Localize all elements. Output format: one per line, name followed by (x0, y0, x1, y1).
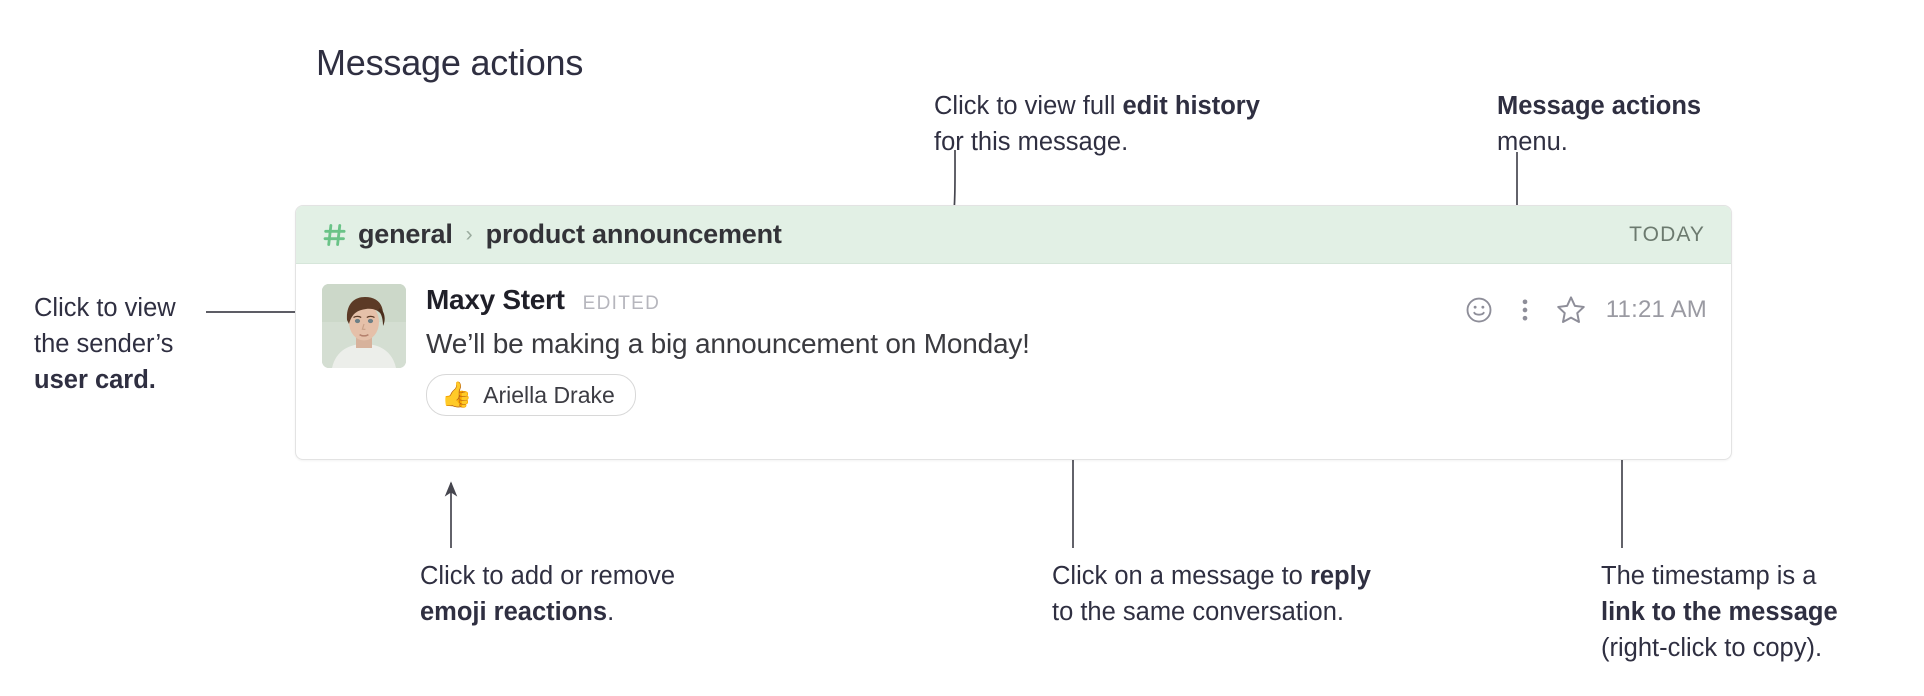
annotation-text-bold: emoji reactions (420, 598, 607, 626)
reaction-pill[interactable]: 👍 Ariella Drake (426, 374, 636, 416)
reaction-label: Ariella Drake (483, 382, 615, 409)
message-content[interactable]: We’ll be making a big announcement on Mo… (426, 328, 1705, 360)
star-icon[interactable] (1548, 290, 1594, 330)
date-label: TODAY (1629, 223, 1705, 247)
avatar[interactable] (322, 284, 406, 368)
annotation-line: The timestamp is a (1601, 558, 1838, 594)
reaction-list: 👍 Ariella Drake (426, 374, 1705, 416)
annotation-timestamp: The timestamp is a link to the message (… (1601, 558, 1838, 666)
sender-name[interactable]: Maxy Stert (426, 284, 565, 316)
page-title: Message actions (316, 42, 583, 84)
annotation-edit-history: Click to view full edit history for this… (934, 88, 1260, 160)
hash-icon[interactable] (322, 222, 348, 248)
annotation-line: the sender’s (34, 326, 176, 362)
annotation-message-actions: Message actions menu. (1497, 88, 1701, 160)
annotation-user-card: Click to view the sender’s user card. (34, 290, 176, 398)
annotation-text-bold: reply (1310, 562, 1371, 590)
recipient-bar[interactable]: general › product announcement TODAY (296, 206, 1731, 264)
message-actions-icon[interactable] (1502, 290, 1548, 330)
avatar-image (322, 284, 406, 368)
add-reaction-icon[interactable] (1456, 290, 1502, 330)
annotation-line: menu. (1497, 124, 1701, 160)
annotation-text: Click to view full (934, 92, 1122, 120)
annotation-line: Click to add or remove (420, 558, 675, 594)
thumbs-up-icon: 👍 (441, 383, 472, 408)
annotation-line: (right-click to copy). (1601, 630, 1838, 666)
annotation-emoji-reactions: Click to add or remove emoji reactions. (420, 558, 675, 630)
message-row[interactable]: Maxy Stert EDITED We’ll be making a big … (296, 264, 1731, 416)
annotation-text: Click on a message to (1052, 562, 1310, 590)
breadcrumb-separator-icon: › (466, 224, 473, 245)
message-timestamp[interactable]: 11:21 AM (1606, 296, 1707, 324)
annotation-text: . (607, 598, 614, 626)
annotation-line: to the same conversation. (1052, 594, 1371, 630)
message-card: general › product announcement TODAY (295, 205, 1732, 460)
annotation-text-bold: edit history (1122, 92, 1259, 120)
annotation-line-bold: user card. (34, 366, 156, 394)
stream-name[interactable]: general (358, 219, 453, 250)
annotation-reply: Click on a message to reply to the same … (1052, 558, 1371, 630)
annotation-text-bold: Message actions (1497, 92, 1701, 120)
topic-name[interactable]: product announcement (486, 219, 782, 250)
edited-badge[interactable]: EDITED (583, 293, 660, 315)
message-controls: 11:21 AM (1456, 290, 1707, 330)
annotation-text-bold: link to the message (1601, 598, 1838, 626)
annotation-line: Click to view (34, 290, 176, 326)
annotation-line: for this message. (934, 124, 1260, 160)
